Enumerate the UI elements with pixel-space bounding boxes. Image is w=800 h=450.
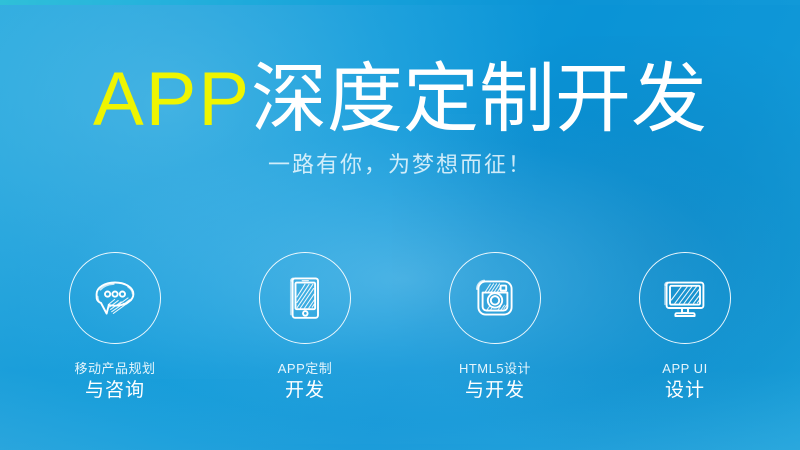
headline-main-text: 深度定制开发 xyxy=(251,57,707,142)
feature-caption-top: APP定制 xyxy=(278,362,333,376)
feature-item-app-development[interactable]: APP定制 开发 xyxy=(212,252,398,401)
feature-caption: APP定制 开发 xyxy=(278,362,333,401)
feature-caption: APP UI 设计 xyxy=(662,362,707,401)
instagram-camera-icon xyxy=(467,270,523,326)
headline-block: APP深度定制开发 xyxy=(0,58,800,142)
feature-caption-bottom: 与咨询 xyxy=(74,381,155,401)
promo-banner: APP深度定制开发 一路有你，为梦想而征！ xyxy=(0,0,800,450)
page-title: APP深度定制开发 xyxy=(0,58,800,142)
feature-caption-bottom: 与开发 xyxy=(459,381,531,401)
smartphone-icon xyxy=(277,270,333,326)
headline-accent-text: APP xyxy=(93,57,251,142)
feature-caption-bottom: 设计 xyxy=(662,381,707,401)
feature-caption-top: APP UI xyxy=(662,362,707,376)
feature-item-app-ui-design[interactable]: APP UI 设计 xyxy=(592,252,778,401)
feature-list: 移动产品规划 与咨询 xyxy=(0,252,800,401)
page-subtitle: 一路有你，为梦想而征！ xyxy=(0,150,800,180)
feature-caption-bottom: 开发 xyxy=(278,381,333,401)
icon-circle xyxy=(259,252,351,344)
feature-caption-top: 移动产品规划 xyxy=(74,362,155,376)
feature-item-html5-design[interactable]: HTML5设计 与开发 xyxy=(402,252,588,401)
icon-circle xyxy=(639,252,731,344)
top-edge-accent xyxy=(0,0,800,5)
chat-bubble-icon xyxy=(87,270,143,326)
icon-circle xyxy=(69,252,161,344)
desktop-monitor-icon xyxy=(657,270,713,326)
icon-circle xyxy=(449,252,541,344)
feature-item-consulting[interactable]: 移动产品规划 与咨询 xyxy=(22,252,208,401)
feature-caption-top: HTML5设计 xyxy=(459,362,531,376)
feature-caption: HTML5设计 与开发 xyxy=(459,362,531,401)
feature-caption: 移动产品规划 与咨询 xyxy=(74,362,155,401)
